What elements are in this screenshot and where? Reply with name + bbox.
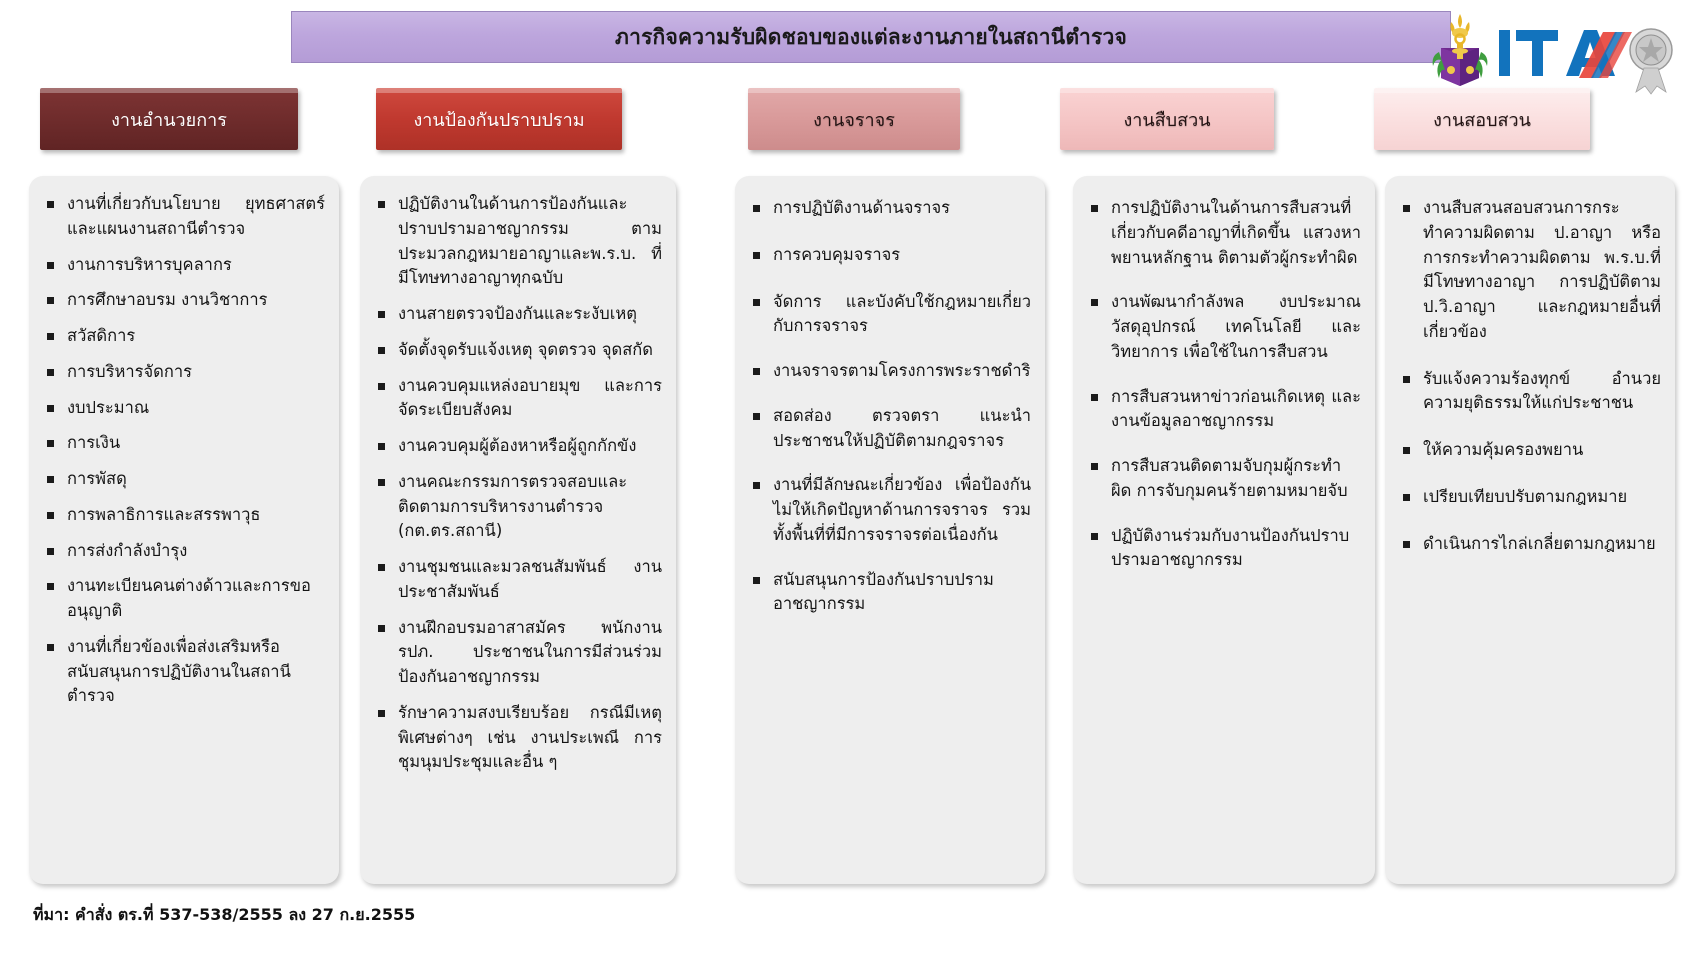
column-body-investigation: งานสืบสวนสอบสวนการกระทำความผิดตาม ป.อาญา…	[1385, 176, 1675, 884]
column-list-intelligence: การปฏิบัติงานในด้านการสืบสวนที่เกี่ยวกับ…	[1087, 196, 1361, 573]
royal-emblem-icon	[1433, 14, 1488, 86]
list-item: งานควบคุมผู้ต้องหาหรือผู้ถูกกักขัง	[374, 434, 662, 459]
ita-logo-graphic	[1427, 8, 1677, 96]
source-note: ที่มา: คำสั่ง ตร.ที่ 537-538/2555 ลง 27 …	[33, 903, 415, 928]
column-header-label: งานอำนวยการ	[111, 105, 227, 134]
list-item: ให้ความคุ้มครองพยาน	[1399, 438, 1661, 463]
column-header-traffic[interactable]: งานจราจร	[748, 88, 960, 150]
ita-wordmark	[1499, 30, 1632, 78]
column-header-label: งานสอบสวน	[1433, 105, 1531, 134]
list-item: การปฏิบัติงานในด้านการสืบสวนที่เกี่ยวกับ…	[1087, 196, 1361, 270]
list-item: จัดตั้งจุดรับแจ้งเหตุ จุดตรวจ จุดสกัด	[374, 338, 662, 363]
column-list-traffic: การปฏิบัติงานด้านจราจร การควบคุมจราจร จั…	[749, 196, 1031, 617]
medal-icon	[1630, 29, 1672, 94]
list-item: เปรียบเทียบปรับตามกฎหมาย	[1399, 485, 1661, 510]
title-banner: ภารกิจความรับผิดชอบของแต่ละงานภายในสถานี…	[291, 11, 1451, 63]
column-list-crime-prevention: ปฏิบัติงานในด้านการป้องกันและปราบปรามอาช…	[374, 192, 662, 775]
list-item: ปฏิบัติงานในด้านการป้องกันและปราบปรามอาช…	[374, 192, 662, 291]
column-header-label: งานป้องกันปราบปราม	[413, 105, 584, 134]
slide-canvas: ภารกิจความรับผิดชอบของแต่ละงานภายในสถานี…	[0, 0, 1705, 959]
list-item: งานสืบสวนสอบสวนการกระทำความผิดตาม ป.อาญา…	[1399, 196, 1661, 345]
list-item: งานการบริหารบุคลากร	[43, 253, 325, 278]
list-item: งานที่เกี่ยวกับนโยบาย ยุทธศาสตร์ และแผนง…	[43, 192, 325, 242]
list-item: สวัสดิการ	[43, 324, 325, 349]
column-body-crime-prevention: ปฏิบัติงานในด้านการป้องกันและปราบปรามอาช…	[360, 176, 676, 884]
column-header-crime-prevention[interactable]: งานป้องกันปราบปราม	[376, 88, 622, 150]
list-item: งานควบคุมแหล่งอบายมุข และการจัดระเบียบสั…	[374, 374, 662, 424]
column-header-label: งานสืบสวน	[1123, 105, 1210, 134]
list-item: การศึกษาอบรม งานวิชาการ	[43, 288, 325, 313]
list-item: ดำเนินการไกล่เกลี่ยตามกฎหมาย	[1399, 532, 1661, 557]
page-title: ภารกิจความรับผิดชอบของแต่ละงานภายในสถานี…	[615, 21, 1127, 54]
list-item: งานทะเบียนคนต่างด้าวและการขออนุญาติ	[43, 574, 325, 624]
column-list-administration: งานที่เกี่ยวกับนโยบาย ยุทธศาสตร์ และแผนง…	[43, 192, 325, 709]
list-item: งานฝึกอบรมอาสาสมัคร พนักงาน รปภ. ประชาชน…	[374, 616, 662, 690]
column-header-administration[interactable]: งานอำนวยการ	[40, 88, 298, 150]
column-header-label: งานจราจร	[813, 105, 895, 134]
column-body-administration: งานที่เกี่ยวกับนโยบาย ยุทธศาสตร์ และแผนง…	[29, 176, 339, 884]
list-item: การควบคุมจราจร	[749, 243, 1031, 268]
ita-logo	[1427, 8, 1677, 96]
list-item: งานที่เกี่ยวข้องเพื่อส่งเสริมหรือสนับสนุ…	[43, 635, 325, 709]
list-item: จัดการ และบังคับใช้กฎหมายเกี่ยวกับการจรา…	[749, 290, 1031, 340]
list-item: รับแจ้งความร้องทุกข์ อำนวยความยุติธรรมให…	[1399, 367, 1661, 417]
list-item: สอดส่อง ตรวจตรา แนะนำประชาชนให้ปฏิบัติตา…	[749, 404, 1031, 454]
list-item: สนับสนุนการป้องกันปราบปรามอาชญากรรม	[749, 568, 1031, 618]
column-header-intelligence[interactable]: งานสืบสวน	[1060, 88, 1274, 150]
list-item: การสืบสวนหาข่าวก่อนเกิดเหตุ และงานข้อมูล…	[1087, 385, 1361, 435]
list-item: งานที่มีลักษณะเกี่ยวข้อง เพื่อป้องกันไม่…	[749, 473, 1031, 547]
list-item: การบริหารจัดการ	[43, 360, 325, 385]
list-item: งานคณะกรรมการตรวจสอบและติดตามการบริหารงา…	[374, 470, 662, 544]
list-item: การส่งกำลังบำรุง	[43, 539, 325, 564]
list-item: การสืบสวนติดตามจับกุมผู้กระทำผิด การจับก…	[1087, 454, 1361, 504]
column-list-investigation: งานสืบสวนสอบสวนการกระทำความผิดตาม ป.อาญา…	[1399, 196, 1661, 556]
column-header-investigation[interactable]: งานสอบสวน	[1374, 88, 1590, 150]
list-item: งานพัฒนากำลังพล งบประมาณ วัสดุอุปกรณ์ เท…	[1087, 290, 1361, 364]
list-item: งานสายตรวจป้องกันและระงับเหตุ	[374, 302, 662, 327]
column-body-intelligence: การปฏิบัติงานในด้านการสืบสวนที่เกี่ยวกับ…	[1073, 176, 1375, 884]
list-item: การพลาธิการและสรรพาวุธ	[43, 503, 325, 528]
list-item: งานชุมชนและมวลชนสัมพันธ์ งานประชาสัมพันธ…	[374, 555, 662, 605]
list-item: งบประมาณ	[43, 396, 325, 421]
list-item: งานจราจรตามโครงการพระราชดำริ	[749, 359, 1031, 384]
list-item: ปฏิบัติงานร่วมกับงานป้องกันปราบปรามอาชญา…	[1087, 524, 1361, 574]
list-item: รักษาความสงบเรียบร้อย กรณีมีเหตุพิเศษต่า…	[374, 701, 662, 775]
list-item: การพัสดุ	[43, 467, 325, 492]
column-body-traffic: การปฏิบัติงานด้านจราจร การควบคุมจราจร จั…	[735, 176, 1045, 884]
list-item: การปฏิบัติงานด้านจราจร	[749, 196, 1031, 221]
list-item: การเงิน	[43, 431, 325, 456]
